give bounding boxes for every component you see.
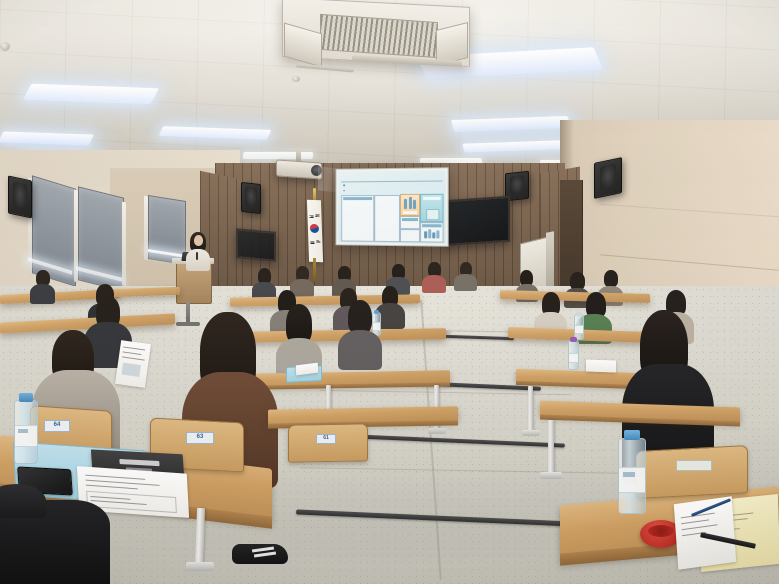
taeguk-circle [310,224,319,233]
wall-speaker [241,182,261,214]
slide-bullet-icon [343,190,345,192]
desk-foot [428,428,446,434]
slide-small-panel [400,229,420,242]
water-bottle [14,400,38,464]
lecture-hall-photo: I. 보건소 및 학교의 사업 지역사회 건강을 위하여 보건기관 사업을 확대… [0,0,779,584]
shoe [232,544,288,564]
attendee-body [338,330,382,370]
desk-leg [528,386,533,434]
korean-flag [307,200,323,263]
wall-mounted-display [444,196,510,247]
slide-highlight-panel [420,194,443,223]
attendee-hair [604,270,618,287]
slide-bullet-icon [343,184,345,186]
attendee-hair [348,300,372,334]
ceiling-light [243,152,314,159]
slide: I. 보건소 및 학교의 사업 지역사회 건강을 위하여 보건기관 사업을 확대… [338,170,445,243]
chair-number-tag: 63 [186,432,214,444]
chair [636,445,748,499]
wall-speaker [594,157,622,199]
presenter-head [194,235,203,246]
wall-mounted-display [236,228,276,261]
chair-label [676,460,712,471]
trigram [310,241,314,244]
desk-leg [548,420,554,476]
wall-speaker [8,175,32,218]
window-frame [122,202,126,287]
lectern-base [176,322,200,326]
microphone [196,252,198,260]
sprinkler-head [0,42,10,51]
slide-figure-panel [400,194,420,216]
handout-booklet [115,340,151,388]
sprinkler-head [292,76,300,82]
projection-screen: I. 보건소 및 학교의 사업 지역사회 건강을 위하여 보건기관 사업을 확대… [335,167,448,247]
trigram [309,215,313,218]
attendee-body [454,274,477,291]
desk-foot [522,430,540,436]
attendee-body [30,284,55,304]
flag-pole [313,258,316,282]
trigram [316,240,320,243]
desk-foot [540,472,562,479]
desk-foot [186,562,214,571]
attendee-body [422,275,446,293]
lectern-stand [186,302,190,324]
slide-chart-panel [420,222,443,242]
trigram [315,214,319,217]
handout-paper [586,359,616,372]
slide-small-panel [400,216,420,229]
water-bottle [618,438,646,514]
presenter-body [186,249,210,271]
chair-number-tag: 61 [316,434,336,444]
slide-table-panel [341,195,374,242]
slide-text-panel [374,195,400,242]
chair-number-tag: 64 [44,420,70,432]
water-bottle [568,340,579,370]
